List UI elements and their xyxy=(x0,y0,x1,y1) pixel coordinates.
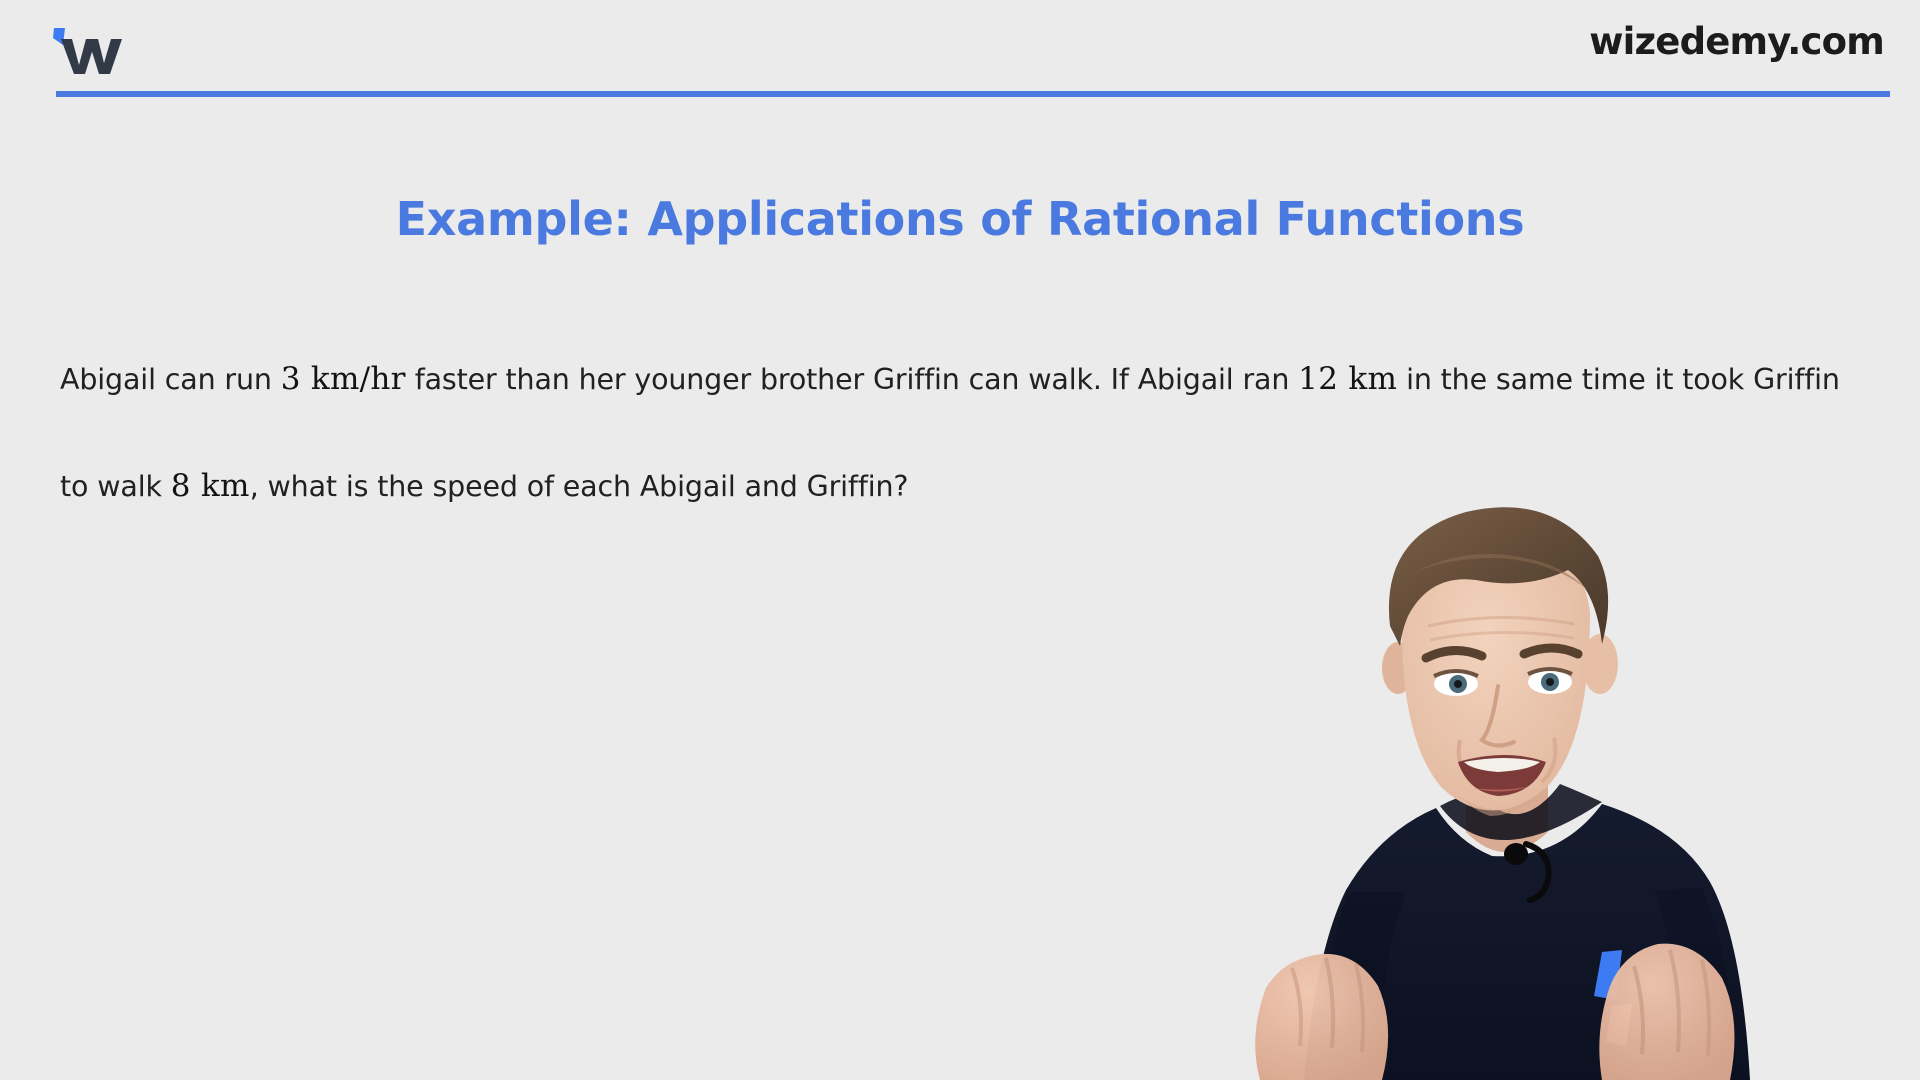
math-speed-difference: 3 km/hr xyxy=(281,361,406,397)
wizedemy-w-logo-icon xyxy=(52,26,126,76)
left-hand xyxy=(1255,954,1388,1080)
problem-text-4: , what is the speed of each Abigail and … xyxy=(250,470,909,503)
brand-domain-label: wizedemy.com xyxy=(1589,20,1884,63)
slide-header: wizedemy.com xyxy=(0,0,1920,108)
header-divider-rule xyxy=(56,91,1890,97)
problem-statement: Abigail can run 3 km/hr faster than her … xyxy=(60,326,1860,540)
problem-text-1: Abigail can run xyxy=(60,363,281,396)
math-griffin-distance: 8 km xyxy=(171,468,250,504)
right-hand xyxy=(1599,944,1734,1080)
mouth xyxy=(1458,755,1546,796)
slide-canvas: wizedemy.com Example: Applications of Ra… xyxy=(0,0,1920,1080)
lavalier-mic xyxy=(1504,843,1549,900)
shirt-logo-icon xyxy=(1594,950,1632,1046)
problem-text-2: faster than her younger brother Griffin … xyxy=(406,363,1298,396)
math-abigail-distance: 12 km xyxy=(1298,361,1397,397)
page-title: Example: Applications of Rational Functi… xyxy=(0,192,1920,246)
eyes xyxy=(1434,669,1572,696)
